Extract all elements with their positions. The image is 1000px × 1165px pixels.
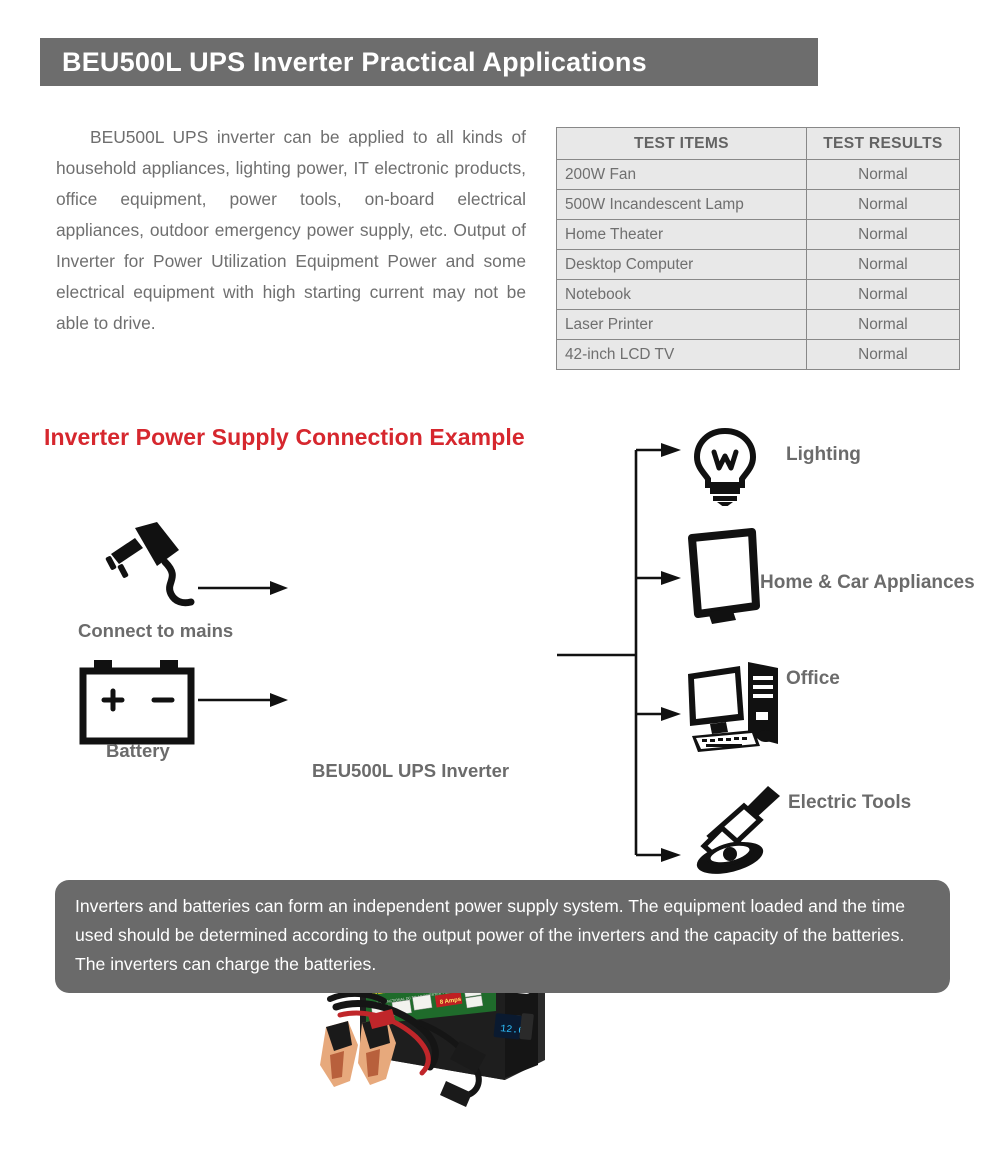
page-header-bar: BEU500L UPS Inverter Practical Applicati… <box>40 38 818 86</box>
cell-test-item: Laser Printer <box>557 310 807 340</box>
arrow-battery-to-inverter <box>198 690 290 710</box>
cell-test-result: Normal <box>806 190 959 220</box>
light-bulb-icon <box>692 428 758 506</box>
table-row: Notebook Normal <box>557 280 960 310</box>
table-header-row: TEST ITEMS TEST RESULTS <box>557 128 960 160</box>
cell-test-result: Normal <box>806 340 959 370</box>
inverter-voltage-display: 12.6 <box>493 1013 533 1040</box>
output-label-office: Office <box>786 668 840 690</box>
table-row: 42-inch LCD TV Normal <box>557 340 960 370</box>
battery-clamp-negative <box>320 1021 358 1087</box>
table-row: Laser Printer Normal <box>557 310 960 340</box>
cell-test-item: Desktop Computer <box>557 250 807 280</box>
table-row: 500W Incandescent Lamp Normal <box>557 190 960 220</box>
page-title: BEU500L UPS Inverter Practical Applicati… <box>40 47 647 78</box>
infographic-page: BEU500L UPS Inverter Practical Applicati… <box>0 0 1000 1000</box>
cell-test-item: Home Theater <box>557 220 807 250</box>
cell-test-result: Normal <box>806 250 959 280</box>
cell-test-item: Notebook <box>557 280 807 310</box>
arrow-mains-to-inverter <box>198 578 290 598</box>
cell-test-result: Normal <box>806 160 959 190</box>
cell-test-result: Normal <box>806 280 959 310</box>
cell-test-result: Normal <box>806 310 959 340</box>
table-row: Desktop Computer Normal <box>557 250 960 280</box>
cell-test-result: Normal <box>806 220 959 250</box>
angle-grinder-icon <box>682 782 792 878</box>
footer-note: Inverters and batteries can form an inde… <box>55 880 950 993</box>
column-header-test-items: TEST ITEMS <box>557 128 807 160</box>
cell-test-item: 200W Fan <box>557 160 807 190</box>
cell-test-item: 42-inch LCD TV <box>557 340 807 370</box>
table-row: 200W Fan Normal <box>557 160 960 190</box>
input-label-connect-to-mains: Connect to mains <box>78 620 233 642</box>
output-branch-connector <box>555 430 685 870</box>
intro-paragraph: BEU500L UPS inverter can be applied to a… <box>56 122 526 339</box>
power-plug-icon <box>95 520 205 610</box>
output-label-electric-tools: Electric Tools <box>788 792 911 814</box>
output-label-lighting: Lighting <box>786 444 861 466</box>
output-label-home-car-appliances: Home & Car Appliances <box>760 572 975 594</box>
test-results-table: TEST ITEMS TEST RESULTS 200W Fan Normal … <box>556 127 960 370</box>
device-label: BEU500L UPS Inverter <box>312 760 509 782</box>
desktop-computer-icon <box>682 658 790 758</box>
battery-icon <box>78 658 200 746</box>
input-label-battery: Battery <box>106 740 170 762</box>
cell-test-item: 500W Incandescent Lamp <box>557 190 807 220</box>
table-row: Home Theater Normal <box>557 220 960 250</box>
column-header-test-results: TEST RESULTS <box>806 128 959 160</box>
connection-diagram: Connect to mains Battery <box>0 410 1000 870</box>
test-results-table-wrapper: TEST ITEMS TEST RESULTS 200W Fan Normal … <box>556 127 960 370</box>
